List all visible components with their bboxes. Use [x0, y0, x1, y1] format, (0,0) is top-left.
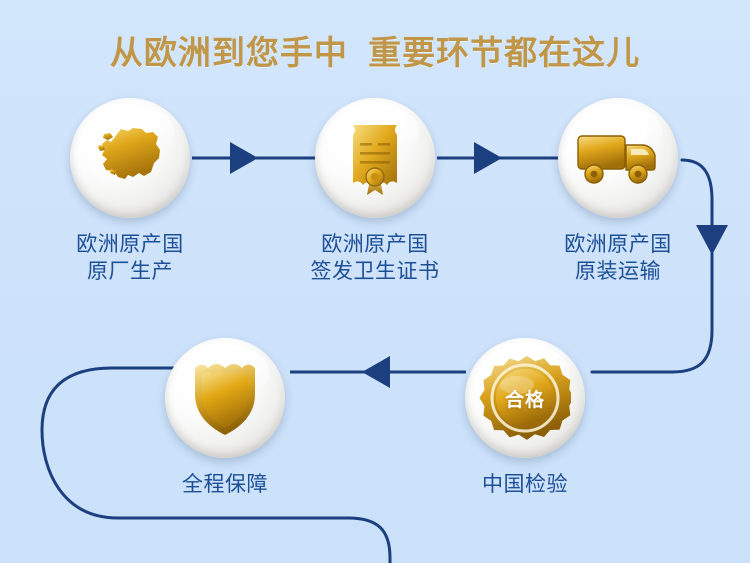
connector-certificate-to-transport: [437, 142, 560, 174]
connector-origin-to-certificate: [192, 142, 316, 174]
infographic-stage: 从欧洲到您手中 重要环节都在这儿: [0, 0, 750, 563]
health-certificate-icon: [345, 119, 405, 197]
delivery-truck-icon: [575, 128, 661, 188]
connector-inspection-to-guarantee: [290, 356, 466, 388]
orb-transport: [558, 98, 678, 218]
flow-node-guarantee-label: 全程保障: [120, 472, 330, 499]
flow-node-origin[interactable]: 欧洲原产国 原厂生产: [70, 98, 194, 286]
flow-node-transport-label: 欧洲原产国 原装运输: [513, 232, 723, 286]
orb-origin: [70, 98, 190, 218]
flow-node-guarantee[interactable]: 全程保障: [165, 338, 289, 499]
flow-node-origin-label: 欧洲原产国 原厂生产: [25, 232, 235, 286]
shield-icon: [189, 358, 261, 438]
flow-node-transport[interactable]: 欧洲原产国 原装运输: [558, 98, 682, 286]
europe-map-icon: [91, 123, 169, 193]
flow-node-certificate[interactable]: 欧洲原产国 签发卫生证书: [315, 98, 439, 286]
orb-certificate: [315, 98, 435, 218]
flow-node-certificate-label: 欧洲原产国 签发卫生证书: [270, 232, 480, 286]
flow-node-inspection[interactable]: 合格 中国检验: [465, 338, 589, 499]
qualified-seal-icon: [479, 352, 571, 444]
orb-inspection: 合格: [465, 338, 585, 458]
orb-guarantee: [165, 338, 285, 458]
flow-node-inspection-label: 中国检验: [420, 472, 630, 499]
